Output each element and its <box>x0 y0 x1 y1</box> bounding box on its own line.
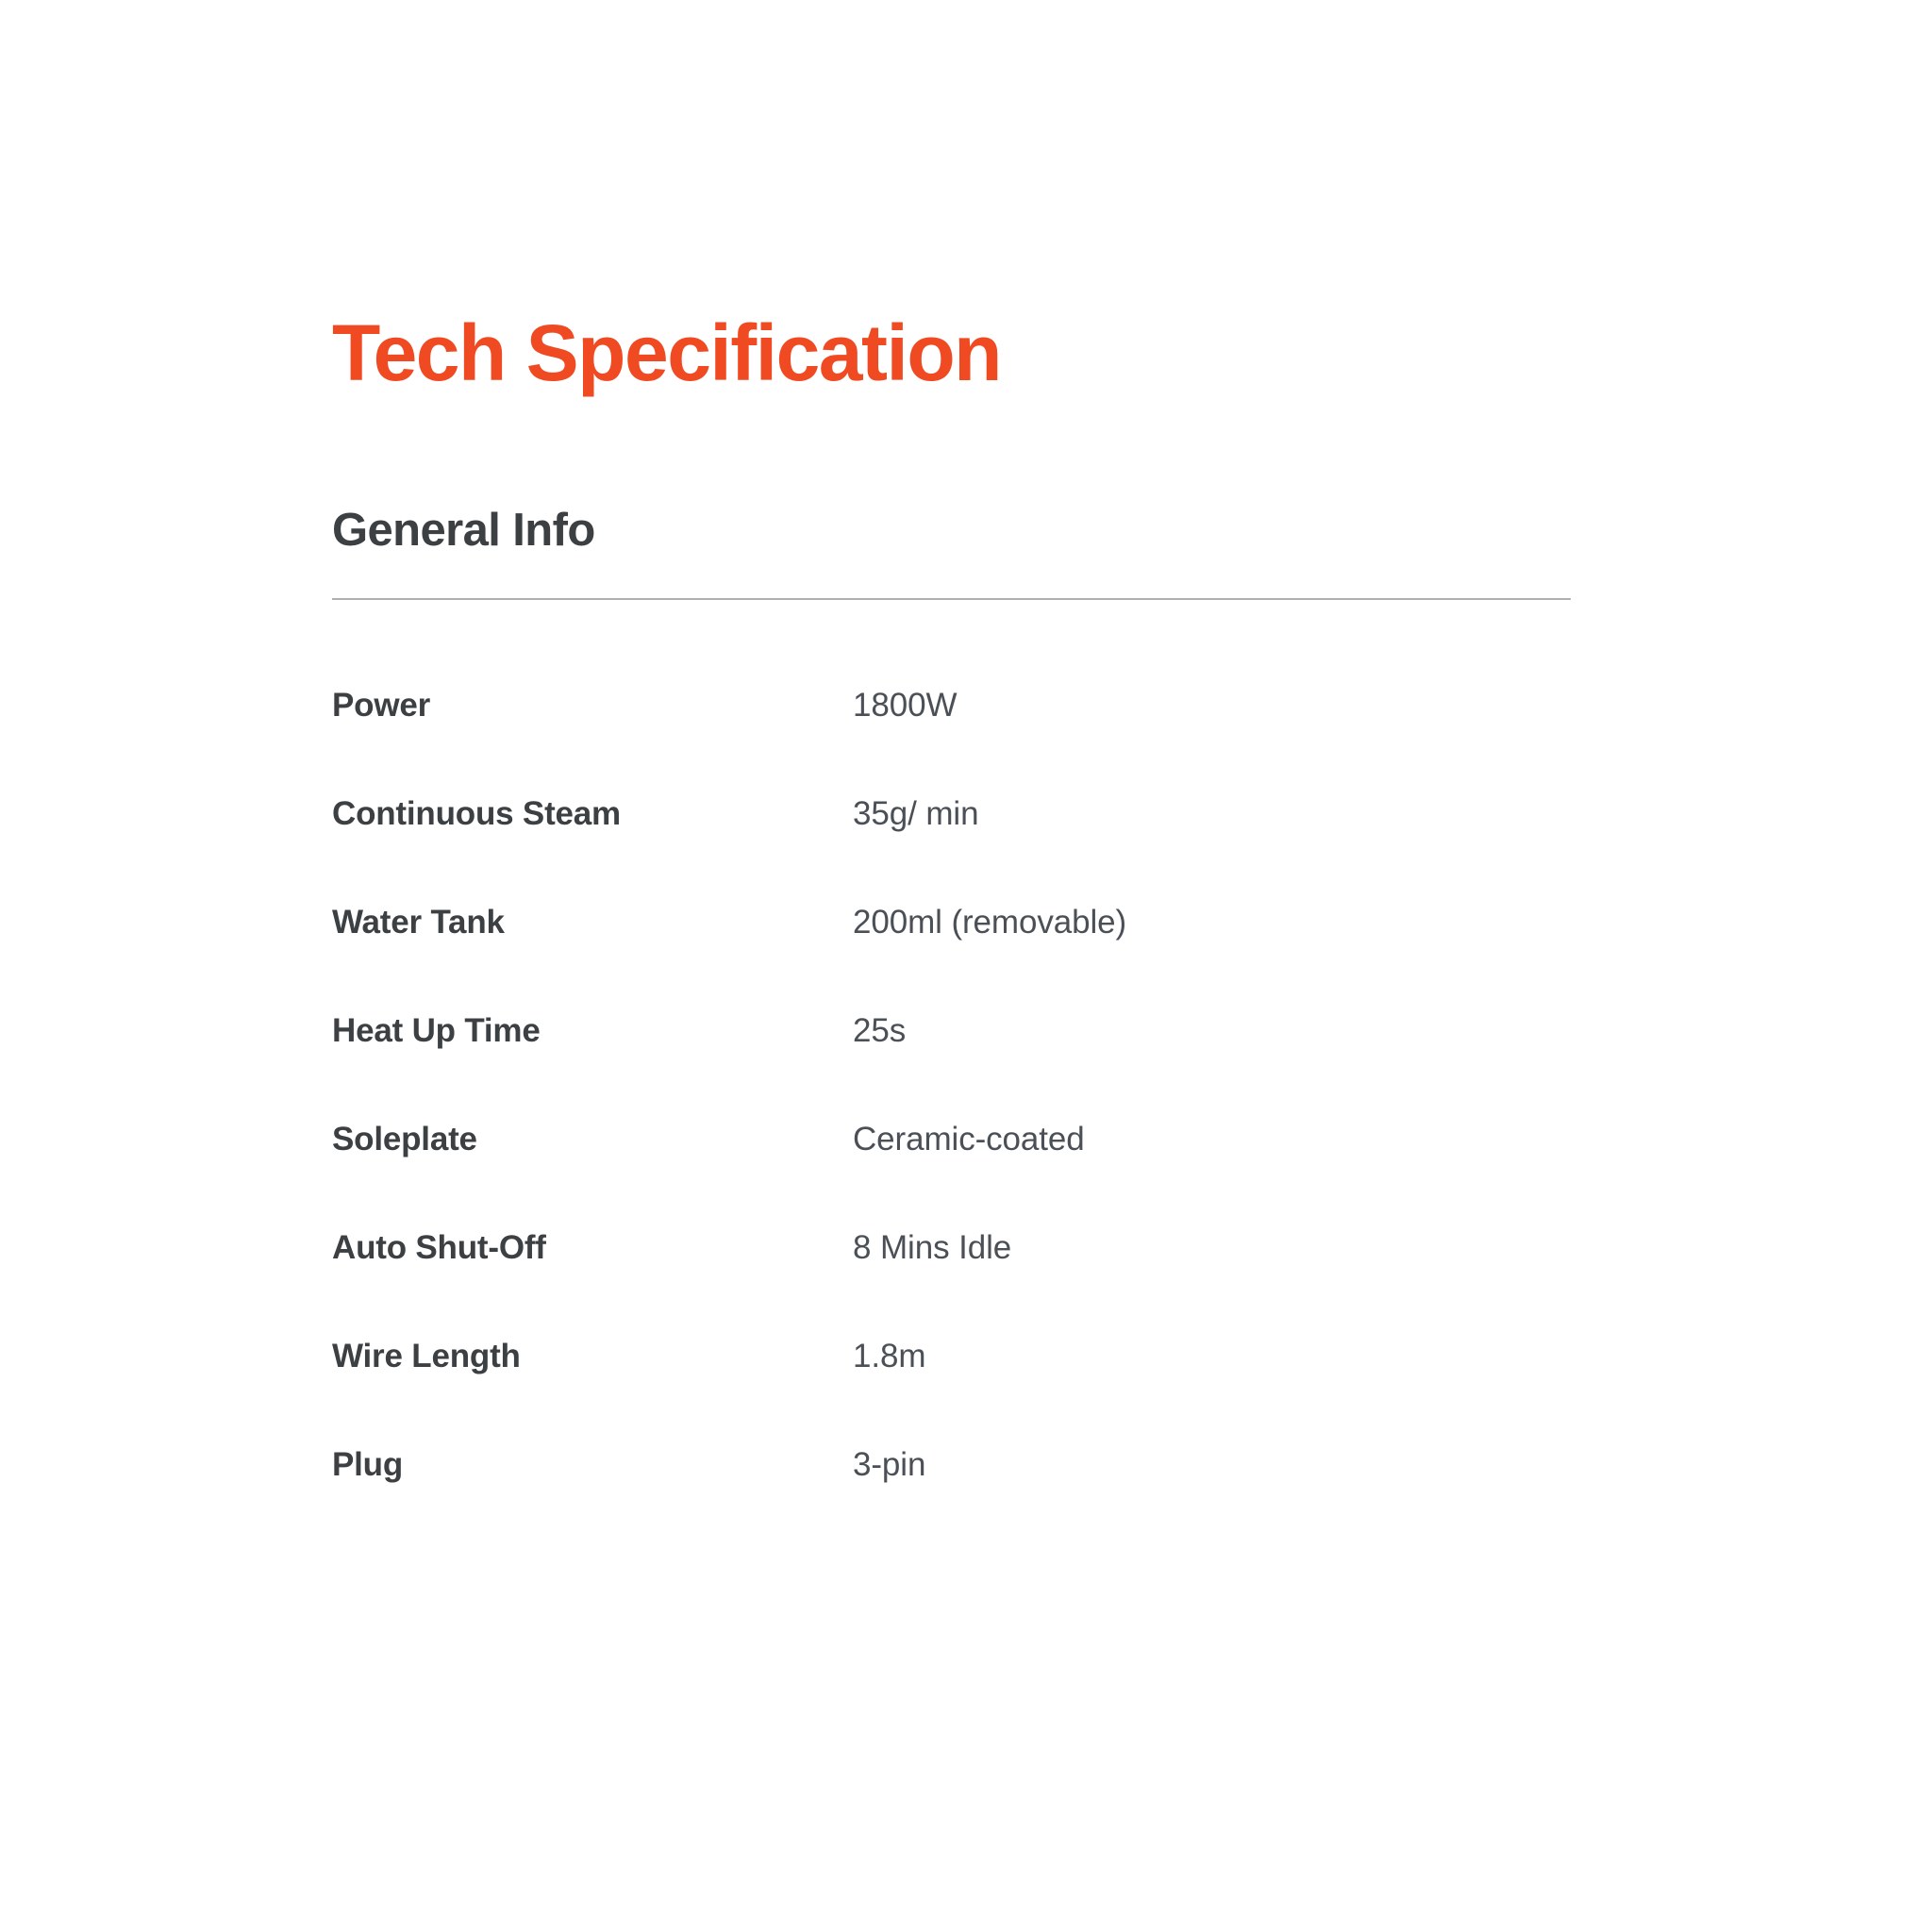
spec-label: Wire Length <box>332 1338 853 1446</box>
spec-value: 3-pin <box>853 1446 1571 1555</box>
spec-label: Heat Up Time <box>332 1012 853 1121</box>
spec-table: Power 1800W Continuous Steam 35g/ min Wa… <box>332 687 1571 1555</box>
table-row: Heat Up Time 25s <box>332 1012 1571 1121</box>
table-row: Wire Length 1.8m <box>332 1338 1571 1446</box>
table-row: Auto Shut-Off 8 Mins Idle <box>332 1229 1571 1338</box>
spec-label: Water Tank <box>332 904 853 1012</box>
tech-specification-page: Tech Specification General Info Power 18… <box>0 0 1932 1932</box>
table-row: Water Tank 200ml (removable) <box>332 904 1571 1012</box>
section-divider <box>332 598 1571 600</box>
spec-label: Auto Shut-Off <box>332 1229 853 1338</box>
spec-value: 8 Mins Idle <box>853 1229 1571 1338</box>
page-title: Tech Specification <box>332 311 1577 394</box>
content-container: Tech Specification General Info Power 18… <box>332 311 1577 1555</box>
section-heading-general-info: General Info <box>332 506 1577 557</box>
table-row: Continuous Steam 35g/ min <box>332 795 1571 904</box>
table-row: Plug 3-pin <box>332 1446 1571 1555</box>
spec-value: Ceramic-coated <box>853 1121 1571 1229</box>
table-row: Soleplate Ceramic-coated <box>332 1121 1571 1229</box>
spec-table-body: Power 1800W Continuous Steam 35g/ min Wa… <box>332 687 1571 1555</box>
spec-label: Plug <box>332 1446 853 1555</box>
general-info-section: General Info Power 1800W Continuous Stea… <box>332 506 1577 1555</box>
spec-value: 1.8m <box>853 1338 1571 1446</box>
spec-label: Continuous Steam <box>332 795 853 904</box>
spec-value: 35g/ min <box>853 795 1571 904</box>
spec-value: 25s <box>853 1012 1571 1121</box>
spec-value: 200ml (removable) <box>853 904 1571 1012</box>
spec-label: Power <box>332 687 853 795</box>
spec-value: 1800W <box>853 687 1571 795</box>
table-row: Power 1800W <box>332 687 1571 795</box>
spec-label: Soleplate <box>332 1121 853 1229</box>
